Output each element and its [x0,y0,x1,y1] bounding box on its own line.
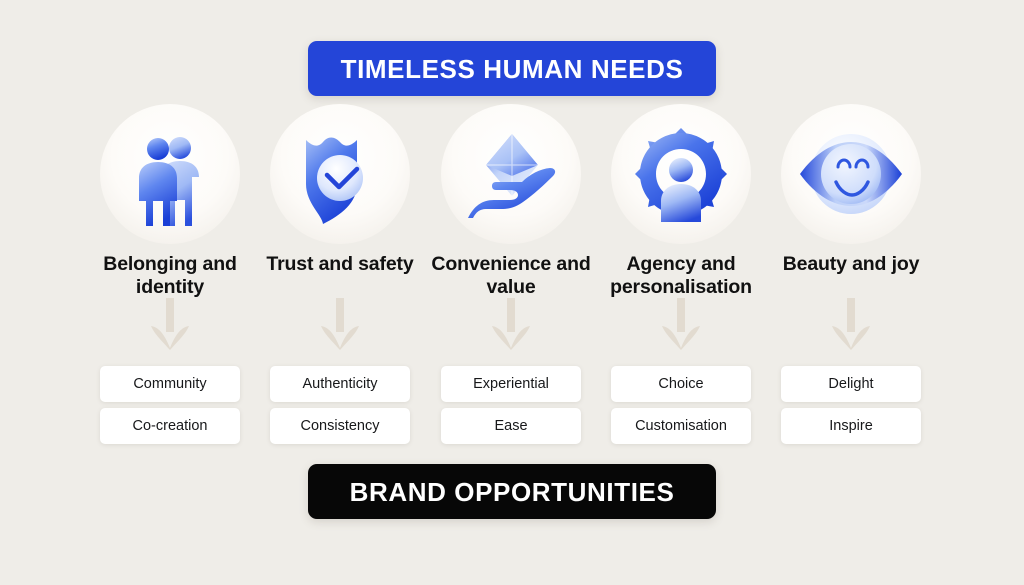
opportunity-card-label: Customisation [635,419,727,434]
need-column-beauty: Beauty and joy [766,104,936,276]
opportunity-card[interactable]: Experiential [441,366,581,402]
down-arrow-icon [490,298,532,350]
opportunity-card[interactable]: Customisation [611,408,751,444]
flow-arrow-beauty [766,298,936,350]
two-people-icon-circle [100,104,240,244]
down-arrow-icon [830,298,872,350]
need-column-agency: Agency and personalisation [596,104,766,299]
opportunity-cards-convenience: Experiential Ease [426,366,596,444]
timeless-human-needs-banner-label: TIMELESS HUMAN NEEDS [341,56,684,82]
opportunity-card-label: Inspire [829,419,873,434]
flow-arrow-convenience [426,298,596,350]
flow-arrow-agency [596,298,766,350]
opportunity-card-label: Co-creation [133,419,208,434]
down-arrow-icon [319,298,361,350]
opportunity-card[interactable]: Consistency [270,408,410,444]
opportunity-card-label: Experiential [473,377,549,392]
opportunity-card-label: Community [133,377,206,392]
opportunity-card-label: Delight [828,377,873,392]
opportunity-cards-belonging: Community Co-creation [85,366,255,444]
opportunity-card[interactable]: Co-creation [100,408,240,444]
brand-opportunities-banner-label: BRAND OPPORTUNITIES [350,479,675,505]
opportunity-card[interactable]: Ease [441,408,581,444]
need-column-convenience: Convenience and value [426,104,596,299]
need-title: Trust and safety [253,253,428,276]
hand-holding-diamond-icon [456,122,566,226]
need-column-trust: Trust and safety [255,104,425,276]
infographic-canvas: TIMELESS HUMAN NEEDS [0,0,1024,585]
two-people-icon [118,122,222,226]
shield-check-icon-circle [270,104,410,244]
need-title: Convenience and value [424,253,599,299]
need-title: Beauty and joy [764,253,939,276]
opportunity-card-label: Ease [494,419,527,434]
opportunity-card[interactable]: Authenticity [270,366,410,402]
flow-arrow-belonging [85,298,255,350]
need-title: Belonging and identity [83,253,258,299]
opportunity-card[interactable]: Delight [781,366,921,402]
flow-arrow-trust [255,298,425,350]
hand-holding-diamond-icon-circle [441,104,581,244]
gear-person-icon-circle [611,104,751,244]
eye-smile-icon-circle [781,104,921,244]
need-title: Agency and personalisation [594,253,769,299]
need-column-belonging: Belonging and identity [85,104,255,299]
opportunity-card-label: Choice [658,377,703,392]
opportunity-card[interactable]: Choice [611,366,751,402]
eye-smile-icon [796,122,906,226]
opportunity-card-label: Authenticity [303,377,378,392]
opportunity-card[interactable]: Inspire [781,408,921,444]
opportunity-cards-beauty: Delight Inspire [766,366,936,444]
opportunity-cards-agency: Choice Customisation [596,366,766,444]
opportunity-card[interactable]: Community [100,366,240,402]
shield-check-icon [288,122,392,226]
down-arrow-icon [149,298,191,350]
opportunity-card-label: Consistency [301,419,380,434]
timeless-human-needs-banner: TIMELESS HUMAN NEEDS [308,41,716,96]
opportunity-cards-trust: Authenticity Consistency [255,366,425,444]
gear-person-icon [629,122,733,226]
brand-opportunities-banner: BRAND OPPORTUNITIES [308,464,716,519]
down-arrow-icon [660,298,702,350]
